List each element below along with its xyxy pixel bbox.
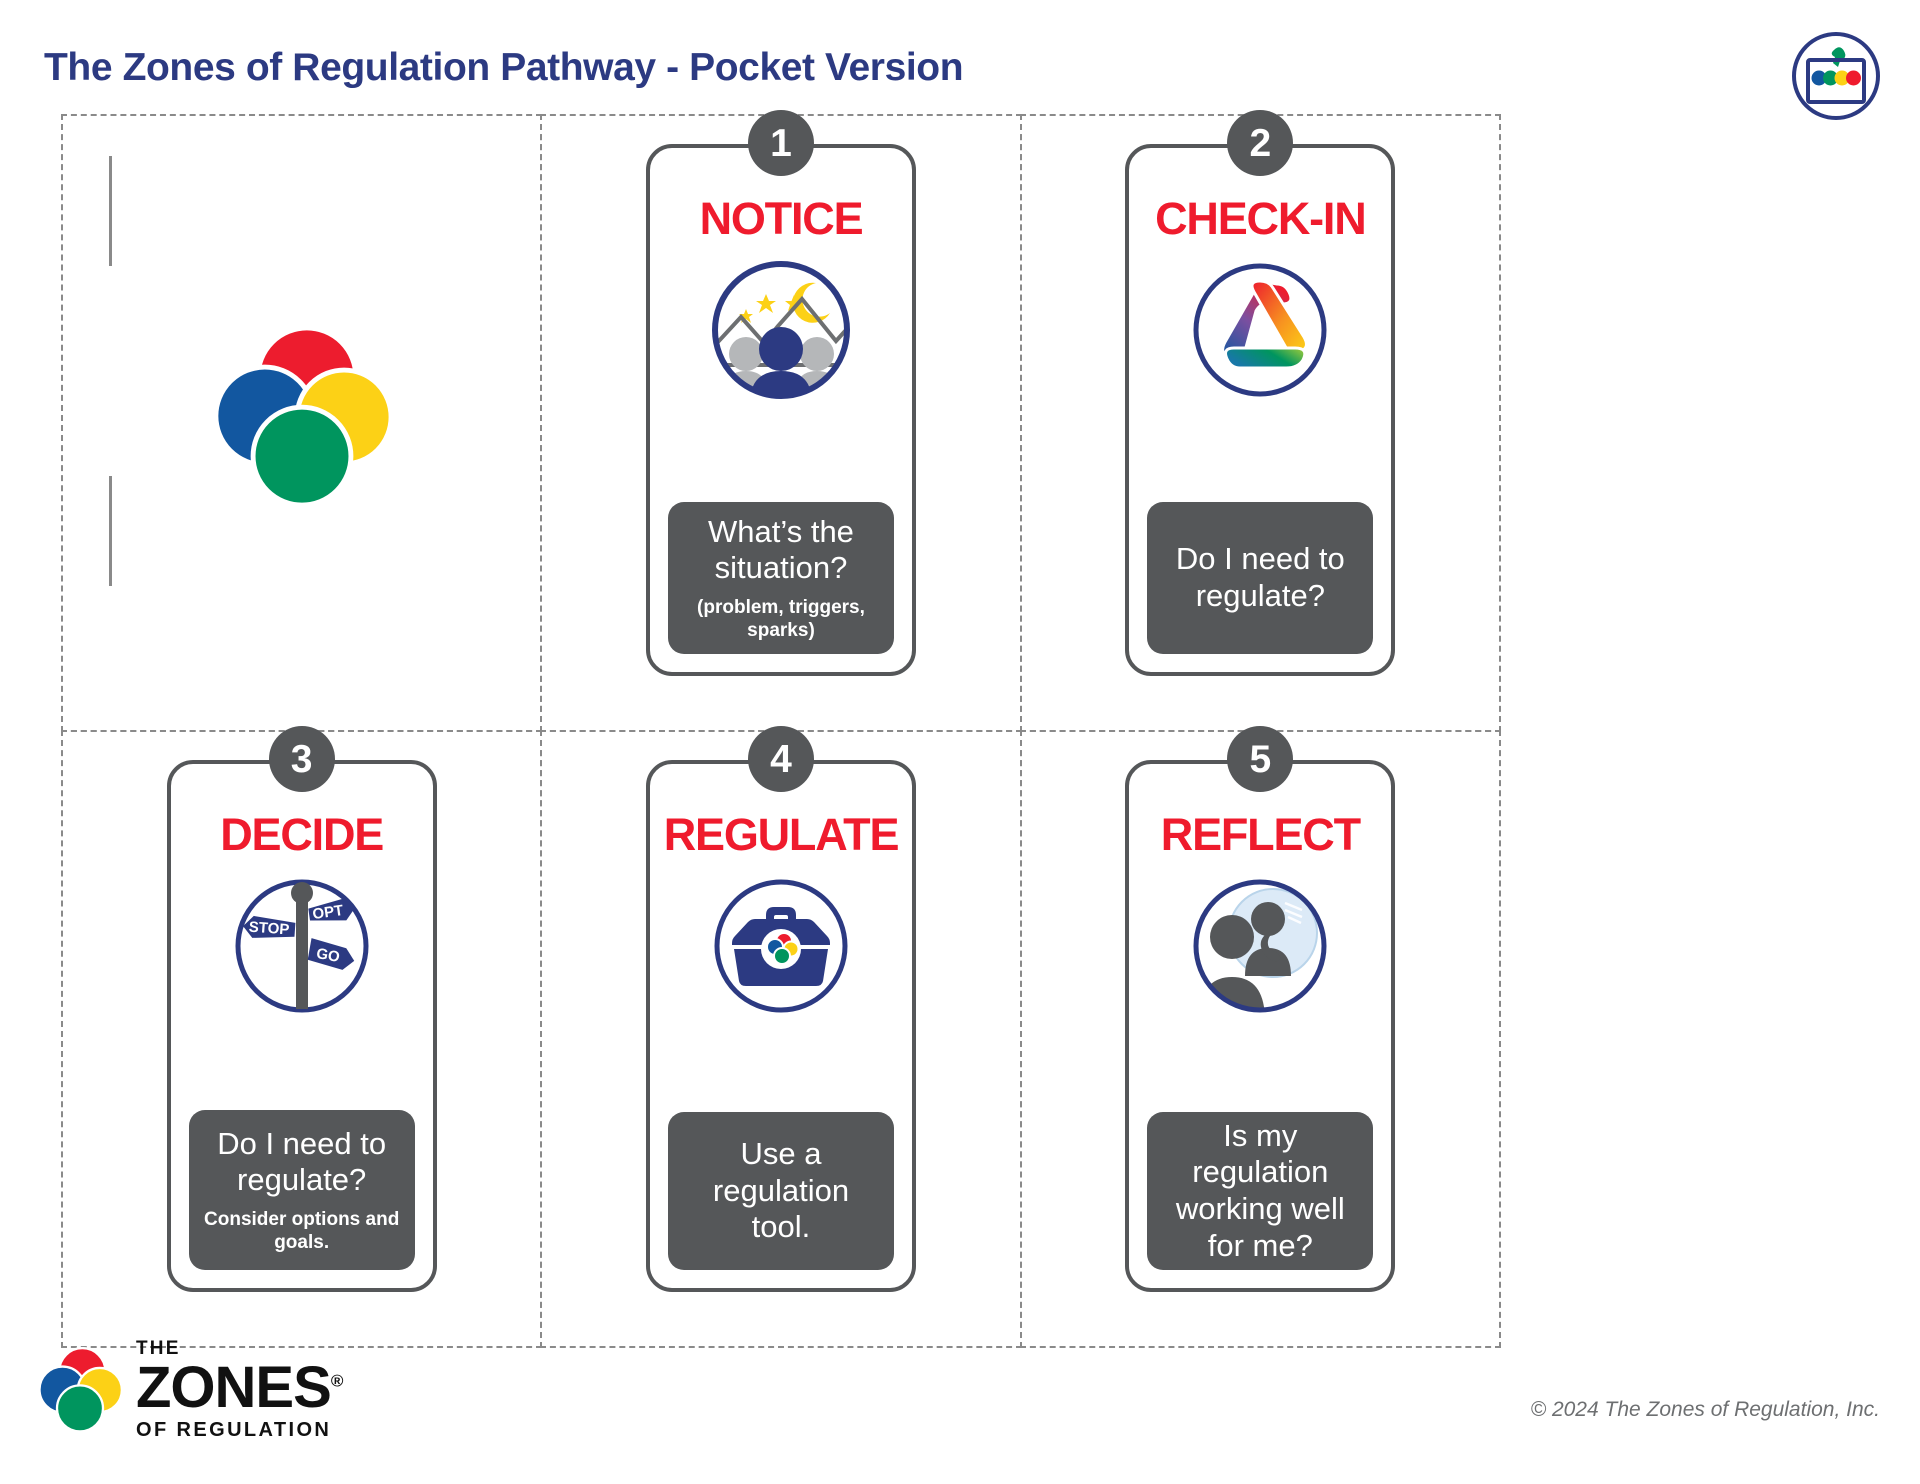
signpost-stop-opt-go-icon: OPT STOP GO (227, 871, 377, 1021)
step-textbox: Do I need toregulate? Consider options a… (189, 1110, 415, 1270)
footer-wordmark-of: OF REGULATION (136, 1420, 343, 1440)
step-textbox: Use aregulationtool. (668, 1112, 894, 1270)
page-title: The Zones of Regulation Pathway - Pocket… (44, 46, 963, 90)
step-card-check-in[interactable]: 2 CHECK-IN (1125, 144, 1395, 676)
step-number-badge: 1 (748, 110, 814, 176)
step-textbox: Is my regulationworking wellfor me? (1147, 1112, 1373, 1270)
step-number-badge: 3 (269, 726, 335, 792)
grid-cell-step-5: 5 REFLECT (1020, 730, 1501, 1348)
footer-logo: THE ZONES® OF REGULATION (34, 1339, 343, 1440)
zones-pinwheel-icon (34, 1347, 126, 1433)
step-card-decide[interactable]: 3 DECIDE OPT STOP GO (167, 760, 437, 1292)
step-heading: NOTICE (700, 196, 863, 241)
night-mountains-people-icon (706, 255, 856, 405)
step-card-regulate[interactable]: 4 REGULATE Use aregulation (646, 760, 916, 1292)
cut-line-grid: 1 NOTICE (62, 115, 1500, 1347)
grid-cell-step-3: 3 DECIDE OPT STOP GO (61, 730, 542, 1348)
sign-label-stop: STOP (248, 919, 290, 939)
step-heading: REGULATE (664, 812, 899, 857)
footer-wordmark-zones: ZONES® (136, 1359, 343, 1417)
footer-wordmark-zones-text: ZONES (136, 1355, 331, 1420)
registered-mark: ® (331, 1372, 344, 1391)
step-number-badge: 5 (1227, 726, 1293, 792)
grid-cell-step-4: 4 REGULATE Use aregulation (540, 730, 1021, 1348)
step-main-text: Do I need toregulate? (1176, 541, 1345, 614)
step-main-text: Use aregulationtool. (713, 1136, 849, 1246)
step-textbox: Do I need toregulate? (1147, 502, 1373, 654)
grid-cell-step-2: 2 CHECK-IN (1020, 114, 1501, 732)
grid-cell-step-1: 1 NOTICE (540, 114, 1021, 732)
step-sub-text: Consider options and goals. (199, 1209, 405, 1255)
step-main-text: What’s thesituation? (708, 514, 854, 587)
copyright-text: © 2024 The Zones of Regulation, Inc. (1531, 1398, 1880, 1422)
step-sub-text: (problem, triggers, sparks) (678, 597, 884, 643)
step-number-badge: 2 (1227, 110, 1293, 176)
step-main-text: Is my regulationworking wellfor me? (1157, 1118, 1363, 1264)
zones-pinwheel-icon (204, 326, 400, 508)
person-mirror-icon (1185, 871, 1335, 1021)
step-heading: CHECK-IN (1155, 196, 1365, 241)
toolbox-icon (706, 871, 856, 1021)
step-main-text: Do I need toregulate? (217, 1126, 386, 1199)
step-card-notice[interactable]: 1 NOTICE (646, 144, 916, 676)
step-heading: REFLECT (1161, 812, 1360, 857)
step-card-reflect[interactable]: 5 REFLECT (1125, 760, 1395, 1292)
grid-cell-title (61, 114, 542, 732)
rainbow-triangle-icon (1185, 255, 1335, 405)
step-heading: DECIDE (220, 812, 383, 857)
zones-pinned-card-icon (1790, 30, 1882, 122)
step-number-badge: 4 (748, 726, 814, 792)
step-textbox: What’s thesituation? (problem, triggers,… (668, 502, 894, 654)
